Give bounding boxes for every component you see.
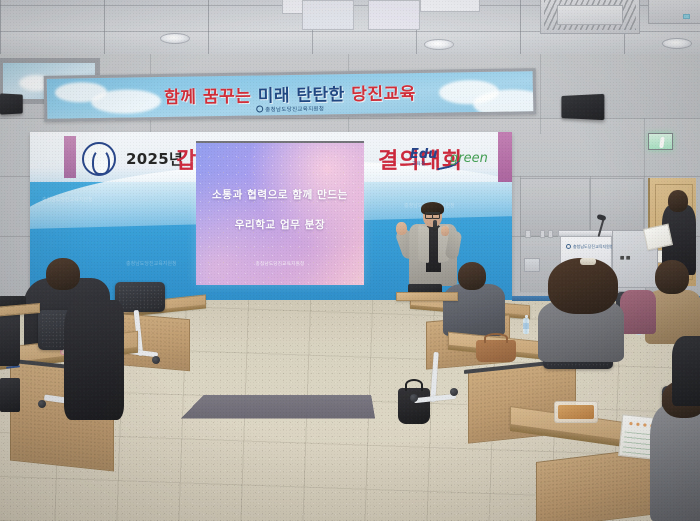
- desk-center-front: [396, 292, 458, 306]
- podium-top-surface: [558, 230, 616, 237]
- backdrop-watermark: 충청남도당진교육지원청: [126, 260, 177, 267]
- recessed-light: [424, 39, 454, 50]
- slide-credit: 충청남도당진교육지원청: [196, 261, 364, 267]
- attendee-top: [620, 290, 656, 334]
- slide-title-line1: 소통과 협력으로 함께 만드는: [196, 187, 364, 202]
- backdrop-accent-strip: [498, 132, 512, 182]
- chair-caster: [410, 394, 418, 402]
- standing-attendee-head: [668, 190, 688, 212]
- ceiling-diffuser-panel: [302, 0, 354, 30]
- attendee-head: [655, 260, 689, 294]
- wall-switch: [548, 230, 553, 238]
- wall-speaker-left: [0, 93, 23, 114]
- recessed-light: [160, 33, 190, 44]
- desk-far-left: [0, 298, 40, 328]
- office-seal-icon: [256, 105, 263, 112]
- wall-panel: [520, 178, 590, 236]
- wall-switch: [540, 230, 545, 238]
- wall-control-box: [524, 258, 540, 272]
- desk-monitor-left-2: [0, 378, 20, 412]
- edu-green-logo: Edu green 교육청: [410, 146, 498, 174]
- hair-clip: [580, 258, 596, 265]
- exit-sign: [648, 133, 673, 150]
- backdrop-title-left: 갑: [176, 143, 197, 175]
- bread-roll: [558, 405, 594, 419]
- bread-snack-bag: [554, 401, 598, 423]
- attendee-curly-hair: [548, 258, 618, 314]
- podium-logo-text: 충청남도당진교육지원청: [566, 244, 613, 250]
- wall-seam: [540, 54, 541, 134]
- presenter-right-hand: [441, 226, 449, 236]
- edu-wordmark: Edu: [410, 147, 437, 162]
- wall-speaker-right: [561, 94, 604, 120]
- wall-switch: [525, 230, 531, 238]
- entrance-floor-mat: [181, 395, 376, 419]
- slide-title-line2: 우리학교 업무 분장: [196, 217, 364, 232]
- banner-subtitle: 충청남도당진교육지원청: [265, 106, 324, 113]
- handbag-strap: [484, 333, 508, 343]
- desk-surface: [0, 303, 40, 319]
- attendee-head: [458, 262, 486, 290]
- backdrop-year: 2025년: [126, 148, 183, 169]
- ceiling-sprinkler: [683, 14, 690, 19]
- banner-text-part3: 당진교육: [351, 84, 416, 105]
- banner-text-part2: 미래 탄탄한: [258, 85, 345, 106]
- attendee-head: [46, 258, 80, 290]
- green-wordmark: green: [450, 151, 488, 166]
- podium-seal-icon: [566, 244, 571, 249]
- bottle-label: [523, 323, 529, 329]
- ceiling: [0, 0, 700, 58]
- photo-scene: 함께 꿈꾸는 미래 탄탄한 당진교육 충청남도당진교육지원청 2025년 갑 결…: [0, 0, 700, 521]
- chair-caster: [38, 400, 46, 408]
- handheld-microphone: [433, 220, 437, 231]
- brown-handbag-on-desk: [476, 340, 516, 362]
- edu-sub-label: 교육청: [412, 161, 426, 167]
- presenter-lapel-left: [418, 225, 429, 264]
- banner-text-part1: 함께 꿈꾸는: [164, 87, 251, 108]
- chair-caster: [450, 388, 458, 396]
- attendee-dark-top: [672, 336, 700, 406]
- presenter-left-hand-raised: [396, 222, 407, 235]
- chair-mesh: [118, 285, 162, 309]
- ceiling-air-conditioner: [648, 0, 700, 24]
- equipment-cabinet-label: ⬛ ⬛: [620, 256, 631, 260]
- desk-surface: [396, 292, 458, 301]
- presenter-glasses: [425, 212, 440, 216]
- podium-label: 충청남도당진교육지원청: [573, 244, 613, 249]
- chair-caster: [152, 356, 160, 364]
- backdrop-watermark: 충청남도당진교육지원청: [42, 196, 93, 203]
- running-man-icon: [659, 137, 665, 148]
- backdrop-accent-strip: [64, 136, 76, 178]
- projection-screen: 소통과 협력으로 함께 만드는 우리학교 업무 분장 충청남도당진교육지원청: [196, 141, 364, 285]
- recessed-light: [662, 38, 692, 49]
- attendee-coat: [64, 300, 124, 420]
- wall-panel: [590, 178, 644, 236]
- ac-center-grille: [557, 5, 624, 25]
- water-bottle: [523, 318, 529, 334]
- bag-handle: [405, 379, 423, 391]
- ceiling-light-panel: [420, 0, 480, 12]
- education-office-logo-icon: [82, 142, 116, 176]
- ceiling-diffuser-panel: [368, 0, 420, 30]
- attendee-grey-top: [650, 406, 700, 521]
- room-banner: 함께 꿈꾸는 미래 탄탄한 당진교육 충청남도당진교육지원청: [44, 68, 537, 122]
- ceiling-air-conditioner: [540, 0, 640, 34]
